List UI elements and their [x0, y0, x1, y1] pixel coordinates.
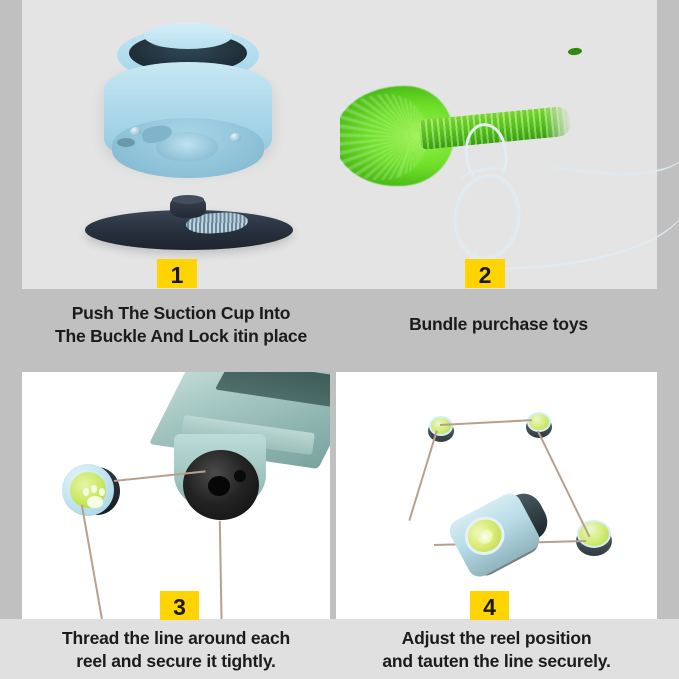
- paw-print-icon: [91, 485, 97, 493]
- thread-line: [219, 521, 222, 619]
- step-4-image: [336, 372, 657, 619]
- step-badge-1: 1: [157, 259, 197, 288]
- step-3-caption-line-2: reel and secure it tightly.: [22, 650, 330, 673]
- feather-tip: [568, 47, 583, 55]
- step-badge-3: 3: [160, 591, 199, 620]
- reel-screw: [230, 133, 241, 142]
- reel-notch: [117, 138, 135, 147]
- step-badge-4: 4: [470, 591, 509, 620]
- corner-reel-unit: [576, 520, 612, 556]
- row-1-caption-band: Push The Suction Cup Into The Buckle And…: [0, 289, 679, 371]
- step-1-caption-line-1: Push The Suction Cup Into: [22, 302, 340, 325]
- row-2-photo-band: [0, 371, 679, 619]
- thread-line: [81, 505, 103, 619]
- step-4-caption-line-2: and tauten the line securely.: [336, 650, 657, 673]
- step-4-caption: Adjust the reel position and tauten the …: [336, 627, 657, 673]
- step-1-caption: Push The Suction Cup Into The Buckle And…: [22, 302, 340, 348]
- side-reel-rim: [62, 464, 114, 516]
- side-reel-unit: [62, 464, 118, 518]
- black-reel-hole: [234, 470, 246, 482]
- paw-print-icon: [87, 496, 103, 508]
- step-2-caption: Bundle purchase toys: [340, 313, 657, 336]
- feather-wand-toy: [340, 80, 570, 190]
- paw-print-icon: [83, 488, 89, 496]
- step-1-image: [22, 0, 340, 289]
- paw-print-icon: [99, 488, 105, 496]
- corner-reel-face: [429, 416, 453, 436]
- step-3-caption: Thread the line around each reel and sec…: [22, 627, 330, 673]
- instruction-sheet: 1 2 Push The Suction Cup Into The Buckle…: [0, 0, 679, 679]
- step-1-caption-line-2: The Buckle And Lock itin place: [22, 325, 340, 348]
- black-reel-hub: [208, 476, 230, 496]
- main-reel-unit: [437, 465, 567, 595]
- tensioned-line: [409, 431, 438, 521]
- main-reel-face: [458, 510, 511, 562]
- step-3-caption-line-1: Thread the line around each: [22, 627, 330, 650]
- corner-reel-unit: [428, 416, 454, 442]
- reel-top-cap: [144, 23, 232, 49]
- reel-screw: [130, 127, 141, 136]
- row-2-caption-band: Thread the line around each reel and sec…: [0, 619, 679, 679]
- suction-cup-knob-top: [172, 195, 204, 204]
- corner-reel-face: [527, 412, 551, 432]
- step-2-image: [340, 0, 657, 289]
- row-1-photo-band: [22, 0, 657, 289]
- step-3-image: [22, 372, 330, 619]
- reel-underside: [112, 118, 264, 178]
- side-reel-face: [70, 472, 106, 508]
- step-2-caption-line-1: Bundle purchase toys: [340, 313, 657, 336]
- step-badge-2: 2: [465, 259, 505, 288]
- step-4-caption-line-1: Adjust the reel position: [336, 627, 657, 650]
